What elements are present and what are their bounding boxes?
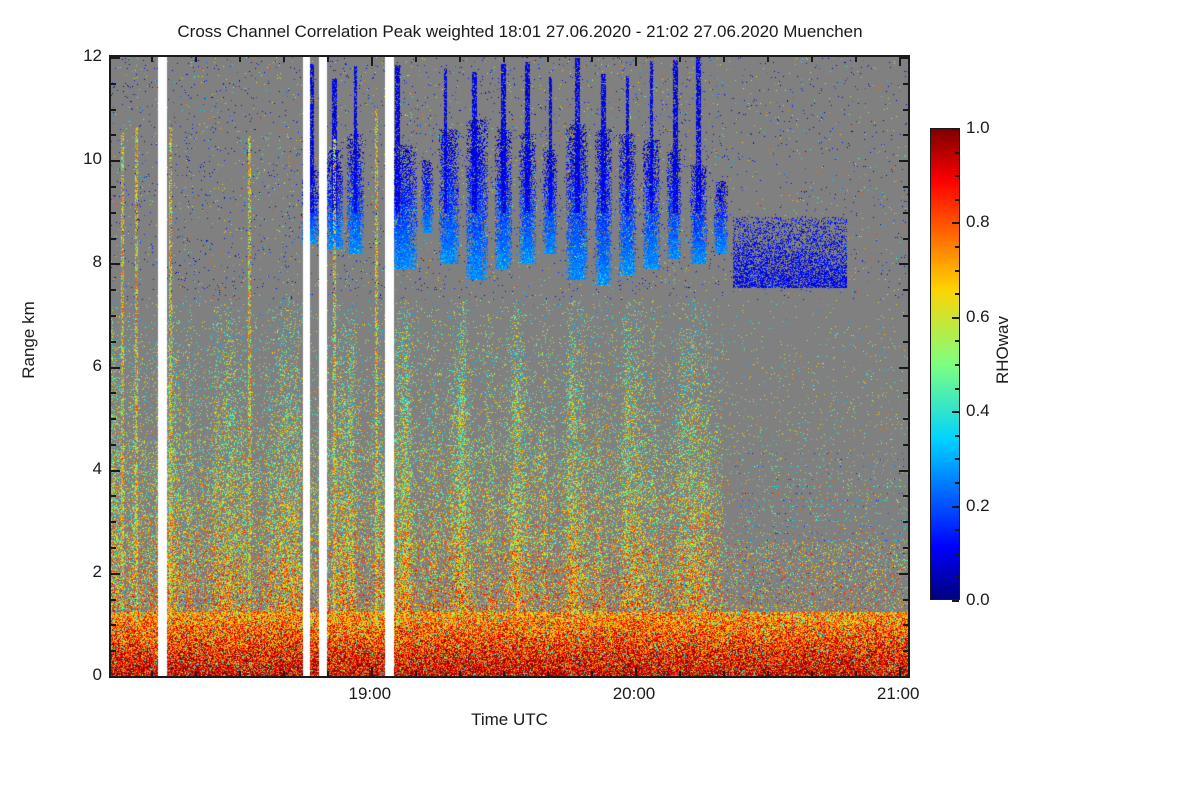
x-tick-minor-top: [327, 57, 329, 62]
x-tick-minor: [591, 671, 593, 676]
x-tick-minor-top: [415, 57, 417, 62]
y-tick-minor-right: [903, 83, 908, 85]
y-tick-minor-right: [903, 624, 908, 626]
x-tick-minor: [767, 671, 769, 676]
y-tick-major-right: [899, 676, 908, 678]
x-tick-major-top: [635, 57, 637, 66]
y-tick-major: [111, 57, 120, 59]
y-tick-minor: [111, 418, 116, 420]
x-tick-minor: [195, 671, 197, 676]
y-tick-label: 4: [93, 459, 102, 479]
colorbar-tick-major: [952, 128, 959, 130]
y-tick-minor: [111, 83, 116, 85]
colorbar-tick-minor: [955, 340, 959, 342]
x-tick-minor-top: [239, 57, 241, 62]
y-tick-major: [111, 676, 120, 678]
y-tick-major: [111, 367, 120, 369]
x-tick-label: 20:00: [613, 684, 656, 704]
x-tick-major: [371, 667, 373, 676]
colorbar-tick-major: [952, 222, 959, 224]
colorbar-tick-label: 0.8: [966, 212, 990, 232]
colorbar-title: RHOwav: [993, 285, 1013, 415]
x-tick-minor-top: [195, 57, 197, 62]
y-tick-minor-right: [903, 109, 908, 111]
y-tick-major: [111, 470, 120, 472]
x-tick-minor-top: [679, 57, 681, 62]
colorbar-tick-minor: [955, 576, 959, 578]
y-tick-minor-right: [903, 599, 908, 601]
colorbar-tick-minor: [955, 482, 959, 484]
colorbar-tick-major: [952, 600, 959, 602]
x-tick-label: 19:00: [349, 684, 392, 704]
x-tick-minor: [459, 671, 461, 676]
y-axis-title: Range km: [19, 275, 39, 405]
y-tick-minor-right: [903, 650, 908, 652]
y-tick-minor: [111, 650, 116, 652]
x-tick-minor-top: [811, 57, 813, 62]
colorbar-tick-minor: [955, 529, 959, 531]
colorbar-tick-minor: [955, 435, 959, 437]
colorbar-tick-minor: [955, 246, 959, 248]
x-tick-minor-top: [459, 57, 461, 62]
y-tick-minor-right: [903, 134, 908, 136]
y-tick-minor: [111, 109, 116, 111]
x-tick-minor-top: [767, 57, 769, 62]
colorbar-tick-label: 1.0: [966, 118, 990, 138]
y-tick-minor: [111, 547, 116, 549]
y-tick-minor-right: [903, 341, 908, 343]
x-tick-minor-top: [855, 57, 857, 62]
figure-root: Cross Channel Correlation Peak weighted …: [0, 0, 1200, 800]
x-tick-minor-top: [723, 57, 725, 62]
y-tick-minor: [111, 624, 116, 626]
x-tick-minor: [811, 671, 813, 676]
y-tick-minor-right: [903, 315, 908, 317]
y-tick-label: 6: [93, 356, 102, 376]
x-tick-minor: [503, 671, 505, 676]
y-tick-minor-right: [903, 212, 908, 214]
y-tick-major-right: [899, 470, 908, 472]
y-tick-minor: [111, 134, 116, 136]
y-tick-minor-right: [903, 392, 908, 394]
y-tick-minor-right: [903, 289, 908, 291]
y-tick-minor-right: [903, 186, 908, 188]
y-tick-major: [111, 160, 120, 162]
y-tick-minor-right: [903, 238, 908, 240]
x-tick-minor-top: [547, 57, 549, 62]
y-tick-label: 10: [83, 149, 102, 169]
colorbar-tick-minor: [955, 175, 959, 177]
colorbar-tick-minor: [955, 458, 959, 460]
y-tick-minor: [111, 599, 116, 601]
y-tick-minor: [111, 238, 116, 240]
page-title: Cross Channel Correlation Peak weighted …: [0, 22, 1040, 42]
colorbar-tick-minor: [955, 364, 959, 366]
y-tick-label: 2: [93, 562, 102, 582]
colorbar-tick-minor: [955, 388, 959, 390]
plot-area[interactable]: [109, 55, 910, 678]
colorbar[interactable]: [930, 128, 960, 600]
y-tick-minor: [111, 495, 116, 497]
colorbar-tick-minor: [955, 293, 959, 295]
x-tick-minor: [855, 671, 857, 676]
x-axis-title: Time UTC: [109, 710, 910, 730]
x-axis-tick-labels: 19:0020:0021:00: [109, 684, 910, 710]
x-tick-major: [635, 667, 637, 676]
x-tick-minor: [327, 671, 329, 676]
y-tick-minor: [111, 315, 116, 317]
y-tick-major-right: [899, 263, 908, 265]
y-tick-minor-right: [903, 418, 908, 420]
y-tick-minor: [111, 521, 116, 523]
y-tick-label: 0: [93, 665, 102, 685]
x-tick-minor: [723, 671, 725, 676]
x-tick-minor-top: [283, 57, 285, 62]
colorbar-tick-major: [952, 506, 959, 508]
y-tick-major: [111, 573, 120, 575]
x-tick-minor-top: [151, 57, 153, 62]
colorbar-tick-minor: [955, 152, 959, 154]
colorbar-tick-major: [952, 317, 959, 319]
y-tick-major-right: [899, 160, 908, 162]
colorbar-tick-minor: [955, 270, 959, 272]
y-tick-minor-right: [903, 521, 908, 523]
x-tick-minor-top: [503, 57, 505, 62]
heatmap-canvas[interactable]: [111, 57, 908, 676]
y-tick-label: 12: [83, 46, 102, 66]
y-tick-minor: [111, 212, 116, 214]
x-tick-minor: [679, 671, 681, 676]
x-tick-minor: [239, 671, 241, 676]
y-tick-minor: [111, 341, 116, 343]
x-tick-major: [899, 667, 901, 676]
x-tick-label: 21:00: [877, 684, 920, 704]
y-tick-minor: [111, 289, 116, 291]
y-tick-minor: [111, 186, 116, 188]
x-tick-minor: [415, 671, 417, 676]
y-tick-major-right: [899, 367, 908, 369]
y-tick-minor-right: [903, 495, 908, 497]
colorbar-tick-label: 0.4: [966, 401, 990, 421]
y-tick-major-right: [899, 573, 908, 575]
x-tick-major-top: [371, 57, 373, 66]
y-tick-minor-right: [903, 444, 908, 446]
y-tick-minor-right: [903, 547, 908, 549]
x-tick-minor: [151, 671, 153, 676]
colorbar-tick-minor: [955, 199, 959, 201]
x-tick-minor: [547, 671, 549, 676]
colorbar-tick-major: [952, 411, 959, 413]
y-tick-major: [111, 263, 120, 265]
y-axis-tick-labels: 024681012: [56, 55, 102, 678]
colorbar-tick-label: 0.6: [966, 307, 990, 327]
x-tick-major-top: [899, 57, 901, 66]
y-tick-minor: [111, 444, 116, 446]
y-tick-label: 8: [93, 252, 102, 272]
x-tick-minor: [283, 671, 285, 676]
colorbar-tick-label: 0.0: [966, 590, 990, 610]
x-tick-minor-top: [591, 57, 593, 62]
y-tick-minor: [111, 392, 116, 394]
colorbar-tick-minor: [955, 553, 959, 555]
colorbar-tick-label: 0.2: [966, 496, 990, 516]
